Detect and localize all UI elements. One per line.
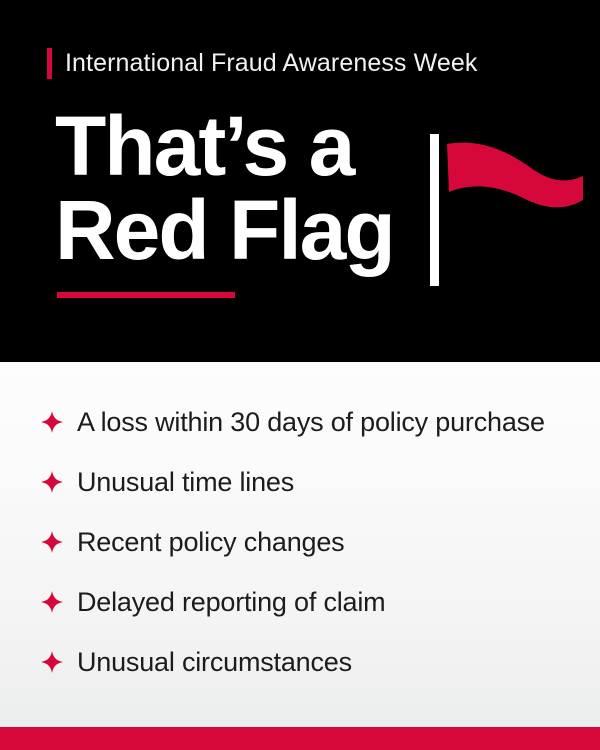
list-item: A loss within 30 days of policy purchase	[0, 392, 600, 452]
flag-banner-icon	[447, 142, 583, 236]
red-footer-bar	[0, 727, 600, 750]
list-item-label: Recent policy changes	[77, 527, 344, 557]
list-item-label: A loss within 30 days of policy purchase	[77, 407, 545, 437]
headline-line-1: That’s a	[55, 104, 415, 188]
headline-line-2: Red Flag	[55, 188, 415, 272]
list-item-label: Delayed reporting of claim	[77, 587, 385, 617]
list-item: Delayed reporting of claim	[0, 572, 600, 632]
red-flag-list: A loss within 30 days of policy purchase…	[0, 362, 600, 692]
red-underline-rule	[57, 292, 235, 298]
eyebrow-row: International Fraud Awareness Week	[47, 48, 477, 79]
header-panel: International Fraud Awareness Week That’…	[0, 0, 600, 362]
list-item-label: Unusual circumstances	[77, 647, 352, 677]
flag-pole-icon	[430, 134, 439, 286]
list-item: Recent policy changes	[0, 512, 600, 572]
list-item: Unusual circumstances	[0, 632, 600, 692]
red-flag-icon	[425, 130, 585, 285]
page-title: That’s a Red Flag	[55, 104, 415, 272]
fraud-awareness-poster: International Fraud Awareness Week That’…	[0, 0, 600, 750]
red-four-point-star-icon	[41, 651, 63, 673]
list-item: Unusual time lines	[0, 452, 600, 512]
eyebrow-text: International Fraud Awareness Week	[65, 48, 477, 79]
red-four-point-star-icon	[41, 471, 63, 493]
red-four-point-star-icon	[41, 531, 63, 553]
red-accent-bar-icon	[47, 48, 52, 79]
red-four-point-star-icon	[41, 411, 63, 433]
list-item-label: Unusual time lines	[77, 467, 294, 497]
red-four-point-star-icon	[41, 591, 63, 613]
